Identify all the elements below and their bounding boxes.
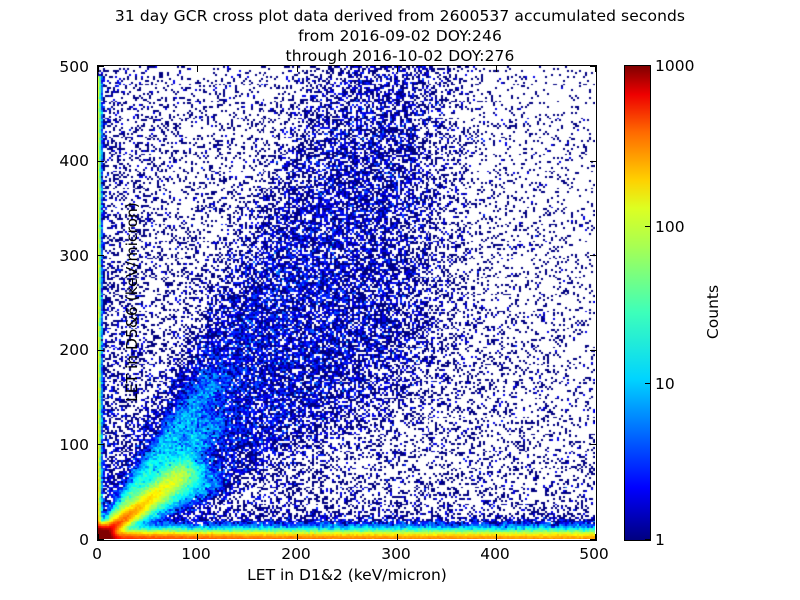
ytick-400 (98, 161, 104, 162)
figure-canvas: 31 day GCR cross plot data derived from … (0, 0, 800, 600)
xtick-200 (297, 534, 298, 540)
xtick-top-400 (496, 66, 497, 72)
xticklabel-400: 400 (460, 545, 530, 563)
yticklabel-500: 500 (29, 58, 89, 76)
xtick-top-300 (397, 66, 398, 72)
xticklabel-500: 500 (559, 545, 629, 563)
ytick-100 (98, 444, 104, 445)
ytick-right-300 (590, 255, 596, 256)
yticklabel-0: 0 (29, 531, 89, 549)
xticklabel-200: 200 (261, 545, 331, 563)
colorbar-ticklabel-1000: 1000 (655, 57, 694, 75)
colorbar-ticklabel-1: 1 (655, 531, 665, 549)
chart-title-line-2: from 2016-09-02 DOY:246 (0, 26, 800, 46)
ytick-500 (98, 66, 104, 67)
yticklabel-200: 200 (29, 341, 89, 359)
colorbar (624, 65, 651, 541)
ytick-right-100 (590, 444, 596, 445)
xtick-300 (397, 534, 398, 540)
colorbar-tick-1 (645, 539, 651, 540)
xtick-top-200 (297, 66, 298, 72)
colorbar-gradient (624, 65, 651, 541)
scatter-heatmap-canvas (98, 66, 595, 539)
ytick-right-200 (590, 350, 596, 351)
xtick-100 (197, 534, 198, 540)
ytick-300 (98, 255, 104, 256)
colorbar-label: Counts (704, 212, 722, 412)
y-axis-label: LET in D5&6 (keV/micron) (123, 64, 141, 540)
yticklabel-300: 300 (29, 247, 89, 265)
ytick-right-400 (590, 161, 596, 162)
ytick-0 (98, 539, 104, 540)
colorbar-tick-10 (645, 383, 651, 384)
ytick-right-500 (590, 66, 596, 67)
yticklabel-400: 400 (29, 152, 89, 170)
chart-title-line-1: 31 day GCR cross plot data derived from … (0, 6, 800, 26)
colorbar-ticklabel-10: 10 (655, 375, 675, 393)
xticklabel-300: 300 (361, 545, 431, 563)
xtick-top-100 (197, 66, 198, 72)
x-axis-label: LET in D1&2 (keV/micron) (97, 566, 597, 584)
ytick-right-0 (590, 539, 596, 540)
plot-axes-frame (97, 65, 597, 541)
colorbar-tick-100 (645, 226, 651, 227)
xticklabel-100: 100 (161, 545, 231, 563)
yticklabel-100: 100 (29, 436, 89, 454)
ytick-200 (98, 350, 104, 351)
colorbar-ticklabel-100: 100 (655, 218, 685, 236)
colorbar-tick-1000 (645, 65, 651, 66)
xtick-400 (496, 534, 497, 540)
